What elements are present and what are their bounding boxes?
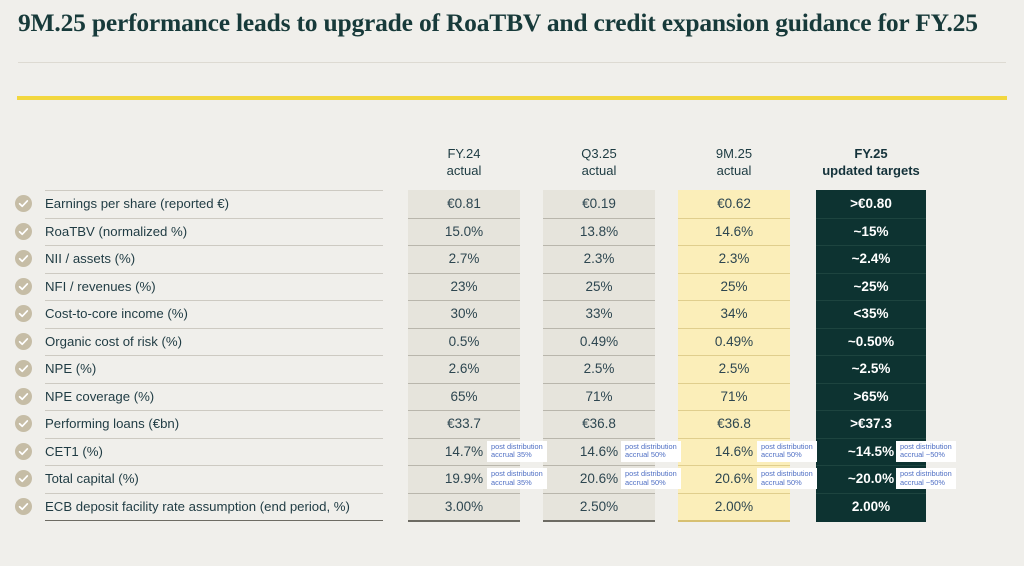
check-circle-icon bbox=[15, 360, 32, 377]
cell-fy24: 23% bbox=[408, 273, 520, 301]
cell-fy24: 30% bbox=[408, 300, 520, 328]
cell-q325: 2.5% bbox=[543, 355, 655, 383]
cell-q325: 33% bbox=[543, 300, 655, 328]
check-circle-icon bbox=[15, 195, 32, 212]
guidance-table: FY.24 actual Q3.25 actual 9M.25 actual F… bbox=[0, 0, 1024, 566]
column-header-fy25-line2: updated targets bbox=[811, 163, 931, 180]
row-divider bbox=[45, 190, 383, 191]
row-label: ECB deposit facility rate assumption (en… bbox=[45, 497, 350, 516]
check-circle-icon bbox=[15, 415, 32, 432]
cell-divider-bottom bbox=[678, 520, 790, 522]
cell-fy24: 2.7% bbox=[408, 245, 520, 273]
check-circle-icon bbox=[15, 388, 32, 405]
cell-q325: 71% bbox=[543, 383, 655, 411]
check-circle-icon bbox=[15, 333, 32, 350]
table-row: RoaTBV (normalized %)15.0%13.8%14.6%~15% bbox=[0, 218, 1024, 246]
row-divider bbox=[45, 438, 383, 439]
cell-q325: 13.8% bbox=[543, 218, 655, 246]
column-header-q325-line1: Q3.25 bbox=[543, 146, 655, 163]
row-label: Total capital (%) bbox=[45, 469, 139, 488]
column-header-fy24-line2: actual bbox=[408, 163, 520, 180]
annotation-badge: post distributionaccrual ~50% bbox=[896, 441, 956, 462]
cell-fy25: ~2.5% bbox=[816, 355, 926, 383]
check-circle-icon bbox=[15, 305, 32, 322]
row-label: Cost-to-core income (%) bbox=[45, 304, 188, 323]
check-circle-icon bbox=[15, 498, 32, 515]
annotation-badge: post distributionaccrual 50% bbox=[621, 468, 681, 489]
row-label: RoaTBV (normalized %) bbox=[45, 222, 187, 241]
annotation-badge: post distributionaccrual 50% bbox=[757, 468, 817, 489]
annotation-badge: post distributionaccrual 35% bbox=[487, 468, 547, 489]
column-header-fy24-line1: FY.24 bbox=[408, 146, 520, 163]
annotation-badge: post distributionaccrual ~50% bbox=[896, 468, 956, 489]
row-divider bbox=[45, 245, 383, 246]
column-header-9m25-line2: actual bbox=[678, 163, 790, 180]
table-row: NFI / revenues (%)23%25%25%~25% bbox=[0, 273, 1024, 301]
row-divider bbox=[45, 355, 383, 356]
table-row: Total capital (%)19.9%20.6%20.6%~20.0%po… bbox=[0, 465, 1024, 493]
row-divider bbox=[45, 273, 383, 274]
row-divider bbox=[45, 465, 383, 466]
row-divider bbox=[45, 218, 383, 219]
cell-m925: 25% bbox=[678, 273, 790, 301]
annotation-badge: post distributionaccrual 50% bbox=[621, 441, 681, 462]
cell-fy25: <35% bbox=[816, 300, 926, 328]
column-header-9m25: 9M.25 actual bbox=[678, 146, 790, 179]
column-header-fy24: FY.24 actual bbox=[408, 146, 520, 179]
cell-fy25: >65% bbox=[816, 383, 926, 411]
cell-fy25: 2.00% bbox=[816, 493, 926, 521]
row-label: Organic cost of risk (%) bbox=[45, 332, 182, 351]
cell-q325: 2.50% bbox=[543, 493, 655, 521]
cell-q325: €36.8 bbox=[543, 410, 655, 438]
cell-fy25: ~2.4% bbox=[816, 245, 926, 273]
cell-fy25: >€0.80 bbox=[816, 190, 926, 218]
cell-q325: €0.19 bbox=[543, 190, 655, 218]
row-divider bbox=[45, 328, 383, 329]
cell-fy25: ~0.50% bbox=[816, 328, 926, 356]
check-circle-icon bbox=[15, 470, 32, 487]
cell-m925: 34% bbox=[678, 300, 790, 328]
row-divider bbox=[45, 383, 383, 384]
row-label: Performing loans (€bn) bbox=[45, 414, 179, 433]
table-row: NPE (%)2.6%2.5%2.5%~2.5% bbox=[0, 355, 1024, 383]
cell-m925: 14.6% bbox=[678, 218, 790, 246]
cell-fy24: 0.5% bbox=[408, 328, 520, 356]
row-label: CET1 (%) bbox=[45, 442, 103, 461]
row-label: NPE coverage (%) bbox=[45, 387, 154, 406]
cell-fy24: €0.81 bbox=[408, 190, 520, 218]
row-divider-bottom bbox=[45, 520, 383, 522]
check-circle-icon bbox=[15, 278, 32, 295]
cell-m925: €0.62 bbox=[678, 190, 790, 218]
cell-fy25: ~15% bbox=[816, 218, 926, 246]
check-circle-icon bbox=[15, 250, 32, 267]
cell-fy24: 15.0% bbox=[408, 218, 520, 246]
cell-divider-bottom bbox=[543, 520, 655, 522]
row-divider bbox=[45, 300, 383, 301]
cell-m925: 0.49% bbox=[678, 328, 790, 356]
column-header-fy25: FY.25 updated targets bbox=[811, 146, 931, 179]
cell-fy24: 65% bbox=[408, 383, 520, 411]
table-row: CET1 (%)14.7%14.6%14.6%~14.5%post distri… bbox=[0, 438, 1024, 466]
column-header-q325-line2: actual bbox=[543, 163, 655, 180]
check-circle-icon bbox=[15, 443, 32, 460]
check-circle-icon bbox=[15, 223, 32, 240]
row-divider bbox=[45, 493, 383, 494]
cell-fy25: >€37.3 bbox=[816, 410, 926, 438]
table-row: NII / assets (%)2.7%2.3%2.3%~2.4% bbox=[0, 245, 1024, 273]
row-label: NFI / revenues (%) bbox=[45, 277, 156, 296]
annotation-badge: post distributionaccrual 50% bbox=[757, 441, 817, 462]
cell-divider-bottom bbox=[816, 520, 926, 522]
cell-fy24: 2.6% bbox=[408, 355, 520, 383]
table-row: Performing loans (€bn)€33.7€36.8€36.8>€3… bbox=[0, 410, 1024, 438]
cell-fy25: ~25% bbox=[816, 273, 926, 301]
cell-m925: 2.3% bbox=[678, 245, 790, 273]
row-divider bbox=[45, 410, 383, 411]
cell-m925: 2.5% bbox=[678, 355, 790, 383]
cell-fy24: 3.00% bbox=[408, 493, 520, 521]
cell-q325: 0.49% bbox=[543, 328, 655, 356]
annotation-badge: post distributionaccrual 35% bbox=[487, 441, 547, 462]
row-label: Earnings per share (reported €) bbox=[45, 194, 229, 213]
cell-m925: 2.00% bbox=[678, 493, 790, 521]
cell-q325: 2.3% bbox=[543, 245, 655, 273]
cell-q325: 25% bbox=[543, 273, 655, 301]
row-label: NII / assets (%) bbox=[45, 249, 135, 268]
column-header-fy25-line1: FY.25 bbox=[811, 146, 931, 163]
table-row: NPE coverage (%)65%71%71%>65% bbox=[0, 383, 1024, 411]
cell-m925: 71% bbox=[678, 383, 790, 411]
cell-m925: €36.8 bbox=[678, 410, 790, 438]
cell-fy24: €33.7 bbox=[408, 410, 520, 438]
cell-divider-bottom bbox=[408, 520, 520, 522]
row-label: NPE (%) bbox=[45, 359, 96, 378]
column-header-9m25-line1: 9M.25 bbox=[678, 146, 790, 163]
column-header-q325: Q3.25 actual bbox=[543, 146, 655, 179]
table-row: ECB deposit facility rate assumption (en… bbox=[0, 493, 1024, 521]
table-row: Organic cost of risk (%)0.5%0.49%0.49%~0… bbox=[0, 328, 1024, 356]
table-row: Cost-to-core income (%)30%33%34%<35% bbox=[0, 300, 1024, 328]
table-row: Earnings per share (reported €)€0.81€0.1… bbox=[0, 190, 1024, 218]
